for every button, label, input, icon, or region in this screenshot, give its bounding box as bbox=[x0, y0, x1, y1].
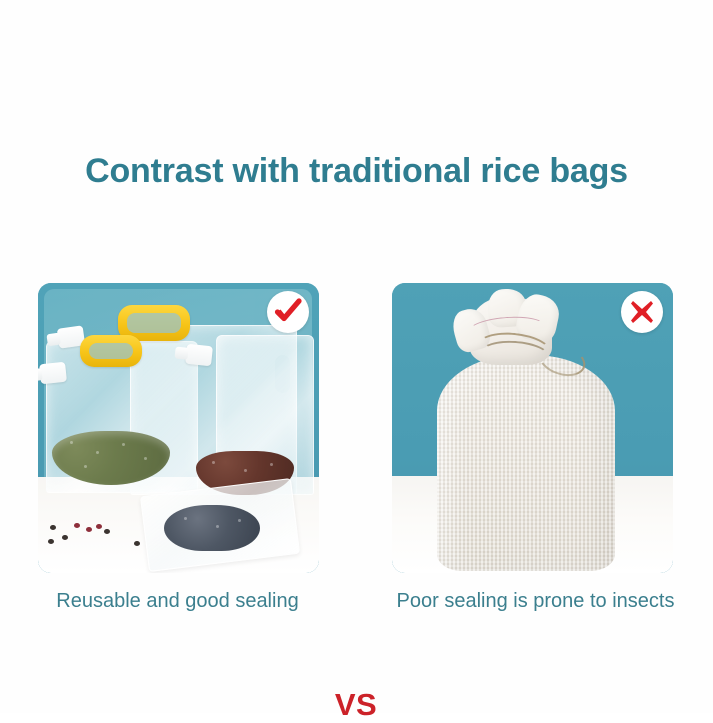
spilled-bean bbox=[134, 541, 140, 546]
spilled-bean bbox=[62, 535, 68, 540]
check-mark-icon bbox=[273, 297, 303, 327]
product-comparison-image: Contrast with traditional rice bags bbox=[0, 0, 713, 713]
pouch-spout-cap bbox=[39, 362, 67, 385]
pouch-spout-cap bbox=[185, 344, 213, 367]
status-badge-rejected bbox=[621, 291, 663, 333]
status-badge-approved bbox=[267, 291, 309, 333]
right-product-panel bbox=[392, 283, 673, 573]
spilled-bean bbox=[96, 524, 102, 529]
spilled-bean bbox=[104, 529, 110, 534]
right-panel-caption: Poor sealing is prone to insects bbox=[358, 590, 713, 613]
left-panel-caption: Reusable and good sealing bbox=[0, 590, 355, 613]
spilled-bean bbox=[86, 527, 92, 532]
cross-mark-icon bbox=[628, 298, 656, 326]
woven-texture bbox=[437, 355, 615, 571]
traditional-rice-sack bbox=[437, 355, 615, 571]
spilled-bean bbox=[48, 539, 54, 544]
spilled-bean bbox=[74, 523, 80, 528]
comparison-row: VS bbox=[0, 283, 713, 575]
page-title: Contrast with traditional rice bags bbox=[0, 152, 713, 191]
spilled-bean bbox=[50, 525, 56, 530]
yellow-carry-handle bbox=[80, 335, 142, 367]
versus-label: VS bbox=[326, 687, 386, 723]
left-product-panel bbox=[38, 283, 319, 573]
black-beans bbox=[164, 505, 260, 551]
